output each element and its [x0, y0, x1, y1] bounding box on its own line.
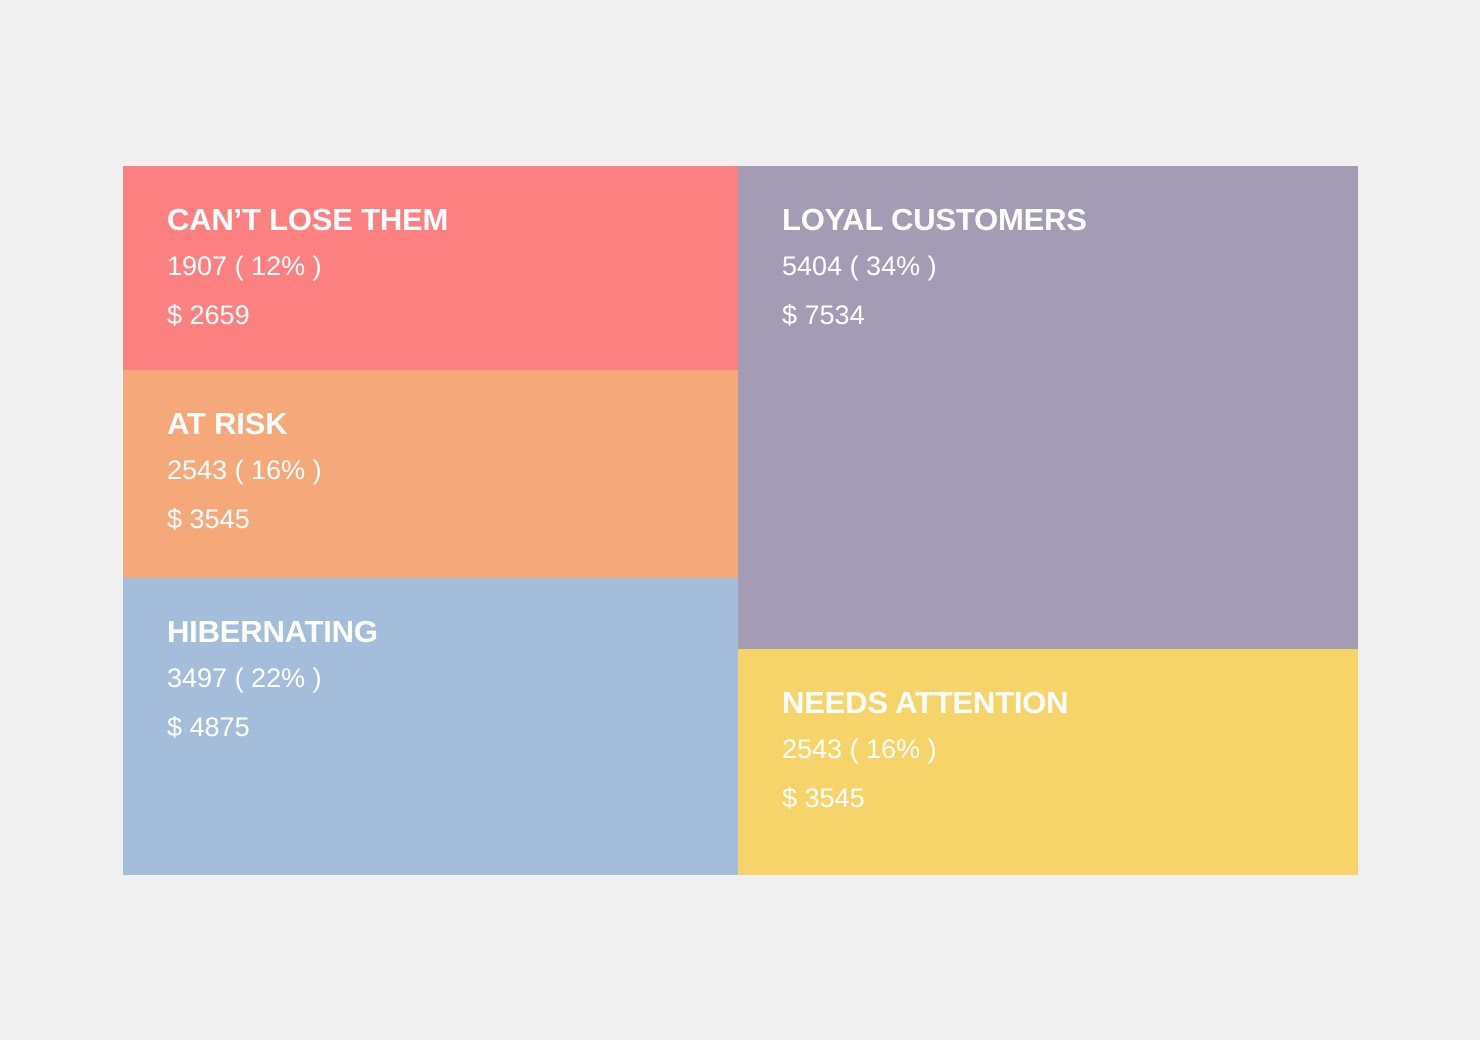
- treemap-column-right: LOYAL CUSTOMERS 5404 ( 34% ) $ 7534 NEED…: [738, 166, 1358, 875]
- tile-title: HIBERNATING: [167, 616, 738, 647]
- tile-count-label: 2543 ( 16% ): [782, 736, 1358, 763]
- tile-amount-label: $ 3545: [167, 506, 738, 533]
- tile-amount-label: $ 4875: [167, 714, 738, 741]
- treemap-tile-cant-lose-them[interactable]: CAN’T LOSE THEM 1907 ( 12% ) $ 2659: [123, 166, 738, 370]
- tile-amount-label: $ 3545: [782, 785, 1358, 812]
- treemap-tile-needs-attention[interactable]: NEEDS ATTENTION 2543 ( 16% ) $ 3545: [738, 649, 1358, 875]
- tile-title: NEEDS ATTENTION: [782, 687, 1358, 718]
- treemap-tile-hibernating[interactable]: HIBERNATING 3497 ( 22% ) $ 4875: [123, 578, 738, 875]
- customer-segment-treemap: CAN’T LOSE THEM 1907 ( 12% ) $ 2659 AT R…: [123, 166, 1358, 875]
- treemap-column-left: CAN’T LOSE THEM 1907 ( 12% ) $ 2659 AT R…: [123, 166, 738, 875]
- tile-title: AT RISK: [167, 408, 738, 439]
- tile-title: CAN’T LOSE THEM: [167, 204, 738, 235]
- treemap-tile-loyal-customers[interactable]: LOYAL CUSTOMERS 5404 ( 34% ) $ 7534: [738, 166, 1358, 649]
- tile-count-label: 2543 ( 16% ): [167, 457, 738, 484]
- tile-count-label: 1907 ( 12% ): [167, 253, 738, 280]
- treemap-tile-at-risk[interactable]: AT RISK 2543 ( 16% ) $ 3545: [123, 370, 738, 578]
- tile-count-label: 5404 ( 34% ): [782, 253, 1358, 280]
- tile-amount-label: $ 2659: [167, 302, 738, 329]
- tile-amount-label: $ 7534: [782, 302, 1358, 329]
- tile-title: LOYAL CUSTOMERS: [782, 204, 1358, 235]
- tile-count-label: 3497 ( 22% ): [167, 665, 738, 692]
